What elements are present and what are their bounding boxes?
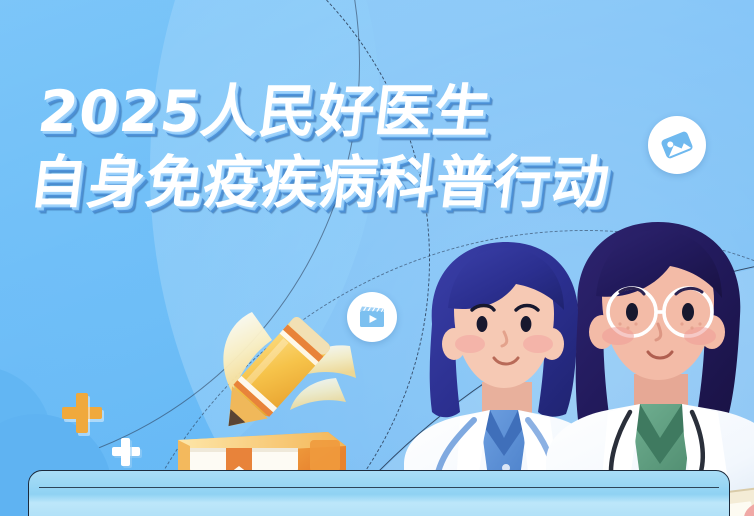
poster-title: 2025人民好医生 自身免疫疾病科普行动 [26,84,622,212]
desk-edge-line [39,487,719,488]
poster-banner: 2025人民好医生 自身免疫疾病科普行动 [0,0,754,516]
plus-white-icon [112,438,140,466]
title-line-1: 2025人民好医生 [35,84,622,141]
plus-orange-icon [62,393,102,433]
title-line-2: 自身免疫疾病科普行动 [26,155,613,212]
photo-icon [660,128,694,162]
photo-badge[interactable] [648,116,706,174]
desk-counter [28,470,730,516]
